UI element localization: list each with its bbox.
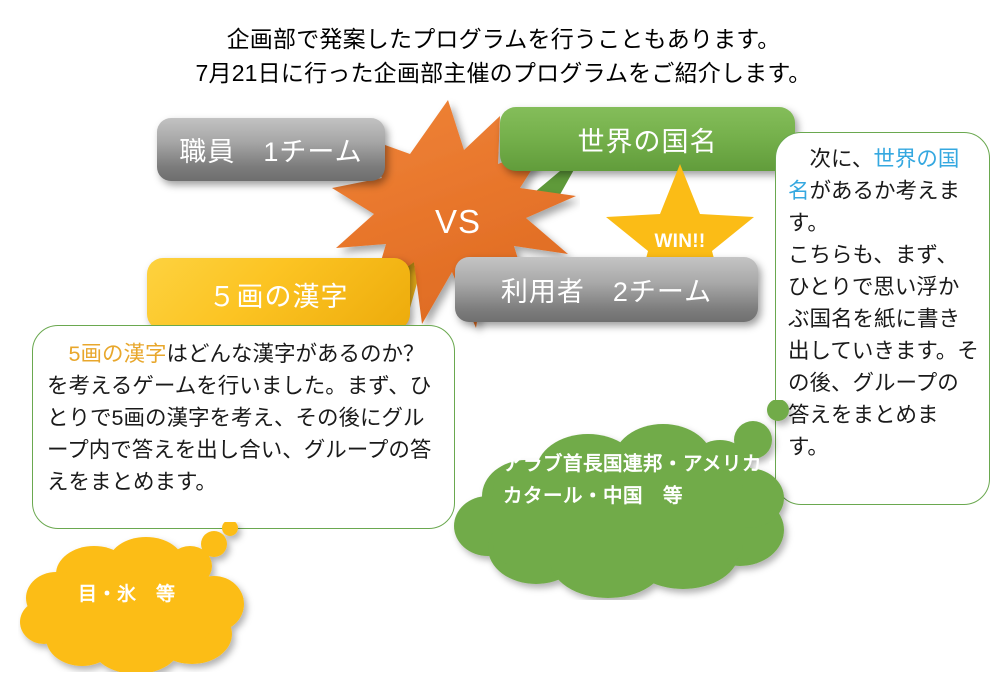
cloud-green: アラブ首長国連邦・アメリカ・カタール・中国 等 — [448, 400, 808, 600]
desc-right-rest: があるか考えます。 — [788, 179, 960, 235]
topic-yellow-label: ５画の漢字 — [209, 275, 349, 314]
desc-right-lead: 次に、 — [810, 147, 874, 171]
title-line-1: 企画部で発案したプログラムを行うこともあります。 — [0, 22, 1007, 56]
team-users-label: 利用者 2チーム — [501, 270, 712, 309]
desc-left-highlight: 5画の漢字 — [69, 342, 167, 366]
cloud-yellow: 目・氷 等 — [18, 522, 278, 672]
page-title: 企画部で発案したプログラムを行うこともあります。 7月21日に行った企画部主催の… — [0, 22, 1007, 90]
cloud-yellow-text: 目・氷 等 — [78, 582, 258, 608]
description-left: 5画の漢字はどんな漢字があるのか？を考えるゲームを行いました。まず、ひとりで5画… — [32, 325, 455, 529]
team-users-box[interactable]: 利用者 2チーム — [455, 257, 758, 322]
slide-canvas: 企画部で発案したプログラムを行うこともあります。 7月21日に行った企画部主催の… — [0, 0, 1007, 677]
team-staff-label: 職員 1チーム — [179, 130, 362, 169]
team-staff-box[interactable]: 職員 1チーム — [157, 118, 385, 181]
topic-green-label: 世界の国名 — [578, 120, 718, 159]
desc-right-body: こちらも、まず、ひとりで思い浮かぶ国名を紙に書き出していきます。その後、グループ… — [788, 243, 979, 459]
cloud-green-text: アラブ首長国連邦・アメリカ・カタール・中国 等 — [503, 448, 783, 512]
topic-yellow-box[interactable]: ５画の漢字 — [147, 258, 410, 330]
title-line-2: 7月21日に行った企画部主催のプログラムをご紹介します。 — [0, 56, 1007, 90]
